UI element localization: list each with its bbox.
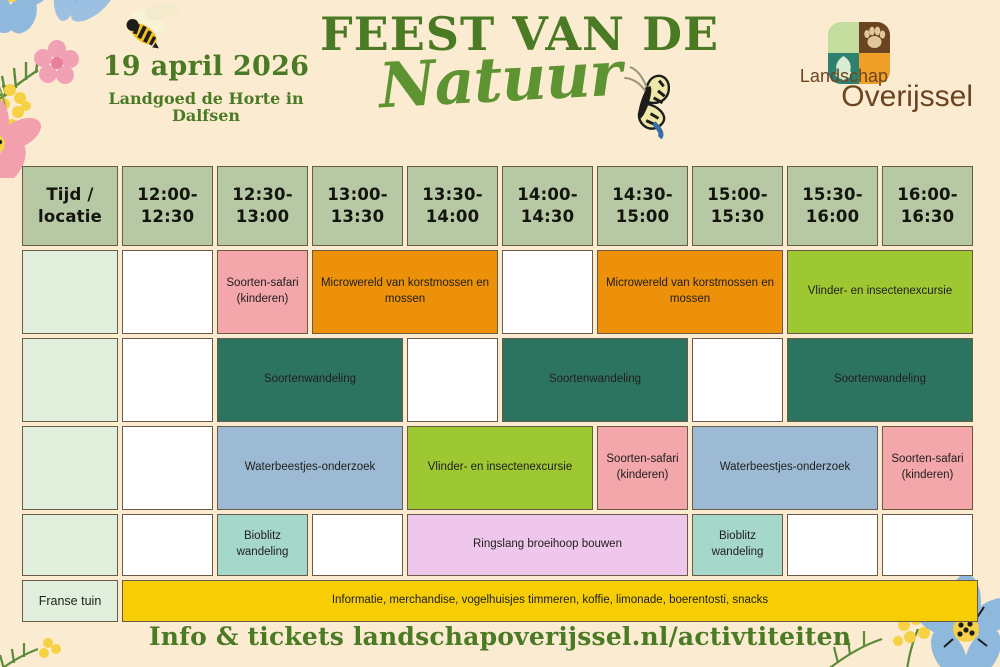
- event-date: 19 april 2026: [96, 52, 316, 82]
- schedule-activity-cell[interactable]: Soortenwandeling: [787, 338, 973, 422]
- paw-icon: [859, 22, 890, 53]
- schedule-row: SoortenwandelingSoortenwandelingSoortenw…: [22, 338, 978, 422]
- schedule-location-cell: [22, 426, 118, 510]
- poster: 19 april 2026 Landgoed de Horte in Dalfs…: [0, 0, 1000, 667]
- schedule-time-header: 13:30-14:00: [407, 166, 498, 246]
- event-location: Landgoed de Horte in Dalfsen: [96, 90, 316, 125]
- schedule-row: Waterbeestjes-onderzoekVlinder- en insec…: [22, 426, 978, 510]
- schedule-time-header: 14:30-15:00: [597, 166, 688, 246]
- schedule-empty-cell: [122, 426, 213, 510]
- schedule-activity-cell[interactable]: Vlinder- en insectenexcursie: [787, 250, 973, 334]
- schedule-corner-header: Tijd /locatie: [22, 166, 118, 246]
- schedule-time-header: 12:00-12:30: [122, 166, 213, 246]
- schedule-activity-cell[interactable]: Vlinder- en insectenexcursie: [407, 426, 593, 510]
- schedule-row: Soorten-safari (kinderen)Microwereld van…: [22, 250, 978, 334]
- schedule-table: Tijd /locatie12:00-12:3012:30-13:0013:00…: [22, 166, 978, 622]
- schedule-location-cell: [22, 338, 118, 422]
- schedule-empty-cell: [122, 338, 213, 422]
- landschap-overijssel-logo[interactable]: Landschap Overijssel: [796, 22, 976, 114]
- schedule-time-header: 14:00-14:30: [502, 166, 593, 246]
- schedule-time-header: 12:30-13:00: [217, 166, 308, 246]
- schedule-location-cell: Franse tuin: [22, 580, 118, 622]
- schedule-activity-cell[interactable]: Soorten-safari (kinderen): [597, 426, 688, 510]
- schedule-empty-cell: [122, 250, 213, 334]
- schedule-activity-cell[interactable]: Bioblitz wandeling: [692, 514, 783, 576]
- schedule-empty-cell: [122, 514, 213, 576]
- schedule-empty-cell: [312, 514, 403, 576]
- logo-quadrant-brown: [859, 22, 890, 53]
- schedule-empty-cell: [502, 250, 593, 334]
- schedule-location-cell: [22, 514, 118, 576]
- schedule-activity-cell[interactable]: Ringslang broeihoop bouwen: [407, 514, 688, 576]
- footer-info[interactable]: Info & tickets landschapoverijssel.nl/ac…: [0, 622, 1000, 651]
- schedule-empty-cell: [692, 338, 783, 422]
- schedule-row: Bioblitz wandelingRingslang broeihoop bo…: [22, 514, 978, 576]
- schedule-activity-cell[interactable]: Soorten-safari (kinderen): [217, 250, 308, 334]
- poster-header: 19 april 2026 Landgoed de Horte in Dalfs…: [0, 0, 1000, 160]
- event-date-block: 19 april 2026 Landgoed de Horte in Dalfs…: [96, 52, 316, 125]
- schedule-time-header: 16:00-16:30: [882, 166, 973, 246]
- schedule-empty-cell: [882, 514, 973, 576]
- schedule-activity-cell[interactable]: Informatie, merchandise, vogelhuisjes ti…: [122, 580, 978, 622]
- logo-quadrant-light-green: [828, 22, 859, 53]
- schedule-activity-cell[interactable]: Bioblitz wandeling: [217, 514, 308, 576]
- schedule-activity-cell[interactable]: Microwereld van korstmossen en mossen: [597, 250, 783, 334]
- schedule-row: Franse tuinInformatie, merchandise, voge…: [22, 580, 978, 622]
- schedule-location-cell: [22, 250, 118, 334]
- schedule-header-row: Tijd /locatie12:00-12:3012:30-13:0013:00…: [22, 166, 978, 246]
- schedule-activity-cell[interactable]: Soorten-safari (kinderen): [882, 426, 973, 510]
- schedule-activity-cell[interactable]: Microwereld van korstmossen en mossen: [312, 250, 498, 334]
- schedule-empty-cell: [787, 514, 878, 576]
- schedule-time-header: 15:00-15:30: [692, 166, 783, 246]
- schedule-empty-cell: [407, 338, 498, 422]
- schedule-activity-cell[interactable]: Waterbeestjes-onderzoek: [217, 426, 403, 510]
- schedule-time-header: 15:30-16:00: [787, 166, 878, 246]
- schedule-activity-cell[interactable]: Waterbeestjes-onderzoek: [692, 426, 878, 510]
- schedule-activity-cell[interactable]: Soortenwandeling: [502, 338, 688, 422]
- schedule-activity-cell[interactable]: Soortenwandeling: [217, 338, 403, 422]
- logo-word-overijssel: Overijssel: [841, 80, 973, 114]
- schedule-time-header: 13:00-13:30: [312, 166, 403, 246]
- butterfly-icon: [612, 62, 682, 142]
